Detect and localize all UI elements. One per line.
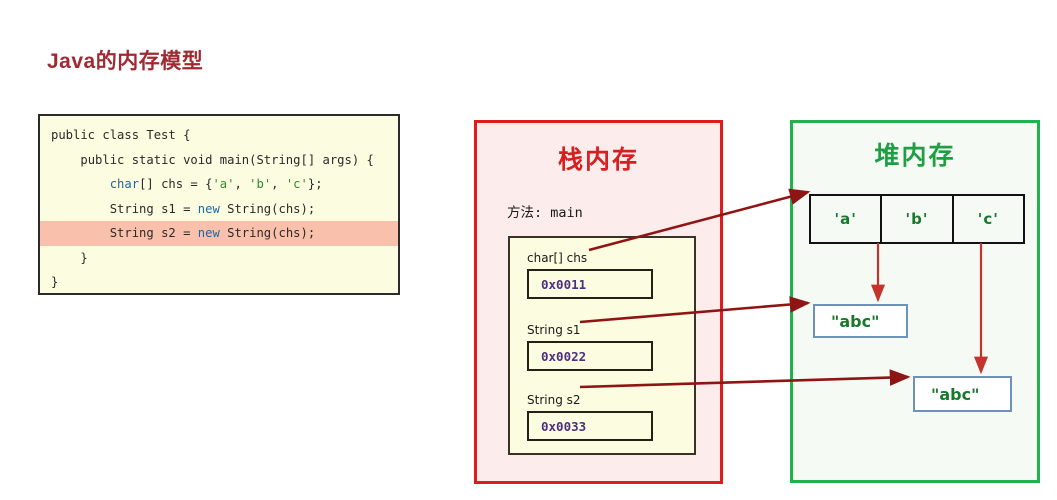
code-token: public static void main(String[] args) { xyxy=(80,153,374,167)
stack-variable-name: String s2 xyxy=(527,393,679,407)
code-token: 'b' xyxy=(249,177,271,191)
code-token: new xyxy=(198,202,220,216)
heap-memory-panel: 堆内存 'a''b''c' "abc" "abc" xyxy=(790,120,1040,483)
stack-variable-name: String s1 xyxy=(527,323,679,337)
code-token: String(chs); xyxy=(220,226,315,240)
code-block: public class Test { public static void m… xyxy=(38,114,400,295)
stack-variable-address: 0x0022 xyxy=(527,341,653,371)
code-token: , xyxy=(234,177,249,191)
code-token: char xyxy=(110,177,139,191)
code-token: String s1 = xyxy=(110,202,198,216)
code-indent xyxy=(51,153,80,167)
heap-char-array: 'a''b''c' xyxy=(809,194,1025,244)
stack-variable-1: char[] chs0x0011 xyxy=(527,251,679,299)
heap-char-cell-1: 'a' xyxy=(811,196,882,242)
code-token: 'c' xyxy=(286,177,308,191)
code-line-3: char[] chs = {'a', 'b', 'c'}; xyxy=(40,172,398,197)
code-line-6: } xyxy=(40,246,398,271)
code-line-7: } xyxy=(40,270,398,295)
heap-char-cell-3: 'c' xyxy=(954,196,1023,242)
code-indent xyxy=(51,177,110,191)
code-token: String s2 = xyxy=(110,226,198,240)
code-token: public class Test { xyxy=(51,128,190,142)
stack-variable-name: char[] chs xyxy=(527,251,679,265)
stack-variable-address: 0x0011 xyxy=(527,269,653,299)
code-token: String(chs); xyxy=(220,202,315,216)
code-token: } xyxy=(80,251,87,265)
code-token: }; xyxy=(308,177,323,191)
stack-variable-address: 0x0033 xyxy=(527,411,653,441)
stack-method-label: 方法: main xyxy=(507,201,583,221)
code-line-2: public static void main(String[] args) { xyxy=(40,148,398,173)
code-line-5: String s2 = new String(chs); xyxy=(40,221,398,246)
stack-memory-title: 栈内存 xyxy=(477,140,720,176)
code-indent xyxy=(51,226,110,240)
heap-memory-title: 堆内存 xyxy=(793,136,1037,172)
code-indent xyxy=(51,251,80,265)
stack-frame-box: char[] chs0x0011String s10x0022String s2… xyxy=(508,236,696,455)
heap-string-object-1: "abc" xyxy=(813,304,908,338)
code-token: } xyxy=(51,275,58,289)
code-token: new xyxy=(198,226,220,240)
stack-variable-3: String s20x0033 xyxy=(527,393,679,441)
code-line-4: String s1 = new String(chs); xyxy=(40,197,398,222)
code-token: 'a' xyxy=(212,177,234,191)
heap-char-cell-2: 'b' xyxy=(882,196,953,242)
code-indent xyxy=(51,202,110,216)
stack-memory-panel: 栈内存 方法: main char[] chs0x0011String s10x… xyxy=(474,120,723,484)
code-token: , xyxy=(271,177,286,191)
code-line-1: public class Test { xyxy=(40,123,398,148)
heap-string-object-2: "abc" xyxy=(913,376,1012,412)
stack-variable-2: String s10x0022 xyxy=(527,323,679,371)
code-token: [] chs = { xyxy=(139,177,212,191)
page-title: Java的内存模型 xyxy=(47,45,203,75)
memory-model-diagram: Java的内存模型 public class Test { public sta… xyxy=(0,0,1057,500)
